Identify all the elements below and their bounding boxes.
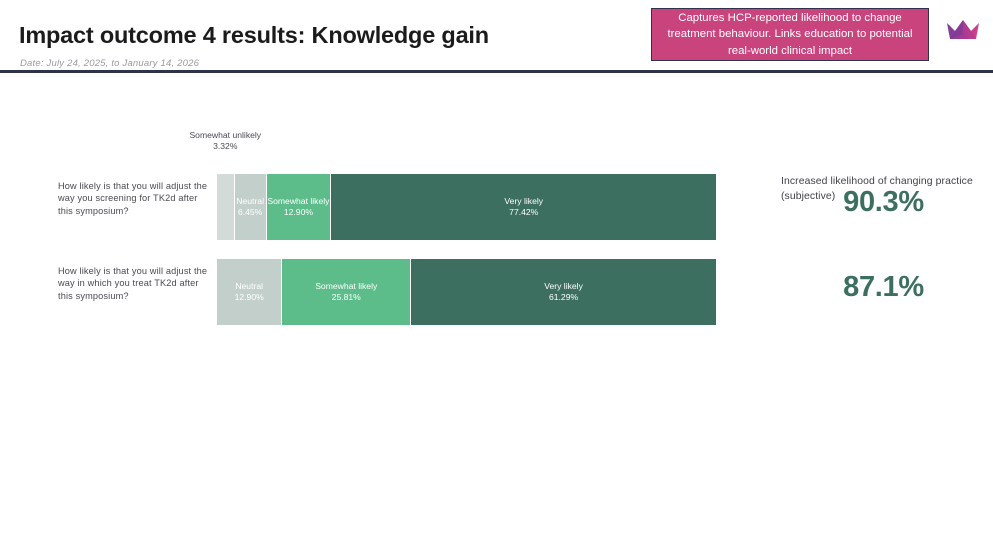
callout-text: Captures HCP-reported likelihood to chan…: [659, 10, 921, 60]
segment-outside-label: Somewhat unlikely 3.32%: [179, 130, 271, 153]
page-title: Impact outcome 4 results: Knowledge gain: [19, 22, 489, 49]
segment-percent: 77.42%: [504, 207, 543, 218]
segment-text: Somewhat likely 25.81%: [313, 281, 379, 304]
header-divider: [0, 70, 993, 73]
segment-text: Neutral 12.90%: [233, 281, 266, 304]
segment-percent: 3.32%: [213, 141, 237, 151]
bar-segment-neutral[interactable]: Neutral 12.90%: [217, 259, 281, 325]
segment-percent: 25.81%: [315, 292, 377, 303]
segment-percent: 12.90%: [235, 292, 264, 303]
segment-label: Somewhat likely: [267, 196, 329, 206]
segment-label: Somewhat likely: [315, 281, 377, 291]
segment-label: Somewhat unlikely: [189, 130, 261, 140]
bar-segment-somewhat-likely[interactable]: Somewhat likely 12.90%: [266, 174, 330, 240]
bar-segment-somewhat-unlikely[interactable]: [217, 174, 234, 240]
crown-icon: [944, 16, 982, 46]
summary-stat-value: 87.1%: [781, 271, 986, 304]
bar-segment-neutral[interactable]: Neutral 6.45%: [234, 174, 266, 240]
segment-label: Very likely: [544, 281, 583, 291]
chart-area: Somewhat unlikely 3.32% How likely is th…: [0, 74, 993, 559]
summary-stat-value: 90.3%: [781, 186, 986, 219]
callout-box: Captures HCP-reported likelihood to chan…: [651, 8, 929, 61]
segment-label: Neutral: [235, 281, 263, 291]
date-range-label: Date: July 24, 2025, to January 14, 2026: [20, 58, 199, 69]
table-row: Neutral 12.90% Somewhat likely 25.81% Ve…: [217, 259, 716, 325]
bar-segment-somewhat-likely[interactable]: Somewhat likely 25.81%: [281, 259, 410, 325]
segment-percent: 12.90%: [267, 207, 329, 218]
slide-header: Impact outcome 4 results: Knowledge gain…: [0, 0, 993, 74]
crown-logo: [944, 16, 982, 46]
segment-label: Neutral: [236, 196, 264, 206]
question-label: How likely is that you will adjust the w…: [58, 180, 210, 217]
table-row: Neutral 6.45% Somewhat likely 12.90% Ver…: [217, 174, 716, 240]
segment-percent: 6.45%: [236, 207, 264, 218]
segment-percent: 61.29%: [544, 292, 583, 303]
bar-segment-very-likely[interactable]: Very likely 77.42%: [330, 174, 716, 240]
segment-text: Very likely 61.29%: [542, 281, 585, 304]
segment-label: Very likely: [504, 196, 543, 206]
segment-text: Neutral 6.45%: [234, 196, 265, 219]
bar-segment-very-likely[interactable]: Very likely 61.29%: [410, 259, 716, 325]
segment-text: Very likely 77.42%: [502, 196, 545, 219]
question-label: How likely is that you will adjust the w…: [58, 265, 210, 302]
segment-text: Somewhat likely 12.90%: [266, 196, 330, 219]
